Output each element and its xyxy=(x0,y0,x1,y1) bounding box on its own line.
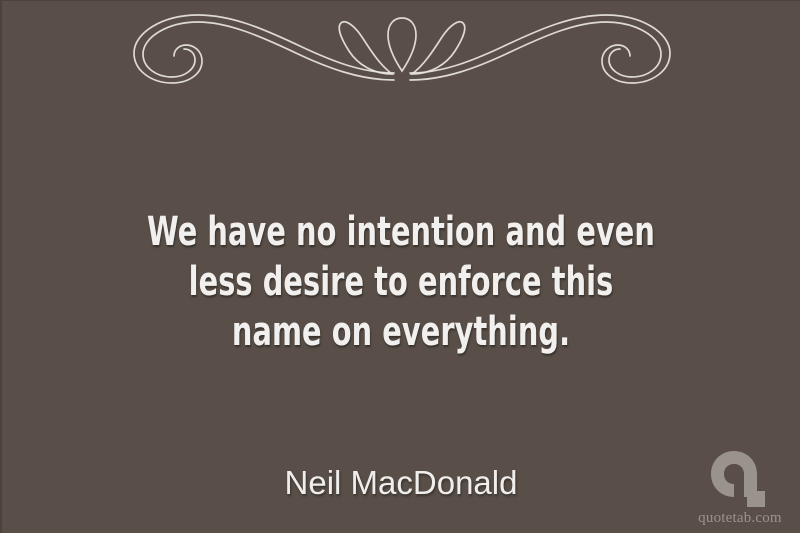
watermark[interactable]: quotetab.com xyxy=(692,449,788,527)
quote-text: We have no intention and even less desir… xyxy=(115,207,686,357)
watermark-label: quotetab.com xyxy=(692,510,788,527)
author-block: Neil MacDonald xyxy=(2,463,800,503)
quotetab-q-logo-icon xyxy=(709,449,771,509)
quote-image-card: We have no intention and even less desir… xyxy=(0,0,800,533)
decorative-flourish-ornament xyxy=(2,1,800,101)
quote-block: We have no intention and even less desir… xyxy=(2,207,800,357)
author-name: Neil MacDonald xyxy=(2,463,800,503)
